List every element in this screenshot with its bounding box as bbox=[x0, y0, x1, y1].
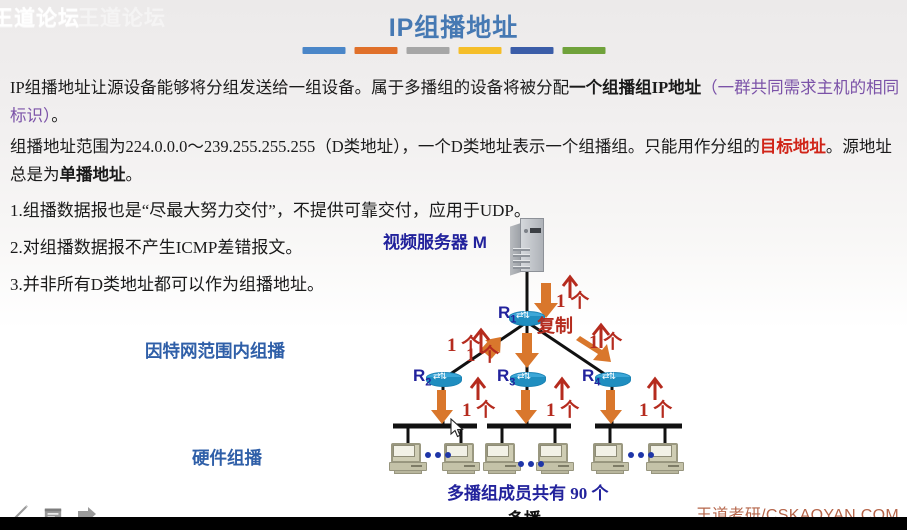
router-r4-label: R4 bbox=[582, 366, 600, 388]
replicate-label: 复制 bbox=[537, 312, 573, 338]
bar-green bbox=[562, 47, 605, 54]
bar-blue bbox=[302, 47, 345, 54]
para2-seg1: 组播地址范围为224.0.0.0～239.255.255.255（D类地址），一… bbox=[10, 137, 760, 156]
host-computer-5 bbox=[591, 443, 629, 475]
para2-bold-unicast: 单播地址 bbox=[60, 165, 126, 184]
label-internet-scope-multicast: 因特网范围内组播 bbox=[145, 338, 285, 363]
host-computer-4 bbox=[536, 443, 574, 475]
slide-body-text: IP组播地址让源设备能够将分组发送给一组设备。属于多播组的设备将被分配一个组播组… bbox=[10, 74, 905, 308]
hosts-ellipsis-1 bbox=[425, 452, 451, 458]
bar-orange bbox=[354, 47, 397, 54]
page-title: IP组播地址 bbox=[0, 8, 907, 44]
video-server-icon bbox=[510, 218, 544, 272]
router-r2-label: R2 bbox=[413, 366, 431, 388]
hosts-ellipsis-2 bbox=[518, 461, 544, 467]
host-computer-2 bbox=[442, 443, 480, 475]
label-hardware-multicast: 硬件组播 bbox=[192, 445, 262, 470]
mouse-cursor bbox=[450, 418, 464, 438]
title-decoration-bars bbox=[302, 47, 605, 54]
count-label-lan1: 1 个 bbox=[462, 395, 495, 422]
slide-canvas: 王道论坛 王道论坛 IP组播地址 IP组播地址让源设备能够将分组发送给一组设备。… bbox=[0, 0, 907, 530]
hosts-ellipsis-3 bbox=[628, 452, 654, 458]
host-computer-3 bbox=[483, 443, 521, 475]
para2-red-destination: 目标地址 bbox=[760, 137, 826, 156]
list-item-1: 1.组播数据报也是“尽最大努力交付”，不提供可靠交付，应用于UDP。 bbox=[10, 197, 905, 225]
host-computer-6 bbox=[646, 443, 684, 475]
count-label-lan3: 1 个 bbox=[639, 395, 672, 422]
paragraph-range: 组播地址范围为224.0.0.0～239.255.255.255（D类地址），一… bbox=[10, 133, 905, 189]
bottom-toolbar: 王道考研/CSKAOYAN.COM bbox=[0, 485, 907, 530]
para1-seg1: IP组播地址让源设备能够将分组发送给一组设备。属于多播组的设备将被分配 bbox=[10, 78, 569, 97]
bottom-black-strip bbox=[0, 517, 907, 530]
bar-gray bbox=[406, 47, 449, 54]
host-computer-1 bbox=[389, 443, 427, 475]
para1-seg2: 。 bbox=[51, 106, 68, 125]
router-r1-label: R1 bbox=[498, 303, 516, 325]
bar-yellow bbox=[458, 47, 501, 54]
para2-seg3: 。 bbox=[126, 165, 143, 184]
count-label-top: 1 个 bbox=[556, 286, 589, 313]
paragraph-definition: IP组播地址让源设备能够将分组发送给一组设备。属于多播组的设备将被分配一个组播组… bbox=[10, 74, 905, 130]
count-label-middle: 1 个 bbox=[466, 340, 499, 367]
router-r3-label: R3 bbox=[497, 366, 515, 388]
bar-navy bbox=[510, 47, 553, 54]
list-item-3: 3.并非所有D类地址都可以作为组播地址。 bbox=[10, 271, 905, 299]
count-label-right: 1 个 bbox=[589, 327, 622, 354]
para1-bold-multicast-ip: 一个组播组IP地址 bbox=[569, 78, 701, 97]
video-server-label: 视频服务器 M bbox=[383, 228, 487, 253]
count-label-lan2: 1 个 bbox=[546, 395, 579, 422]
